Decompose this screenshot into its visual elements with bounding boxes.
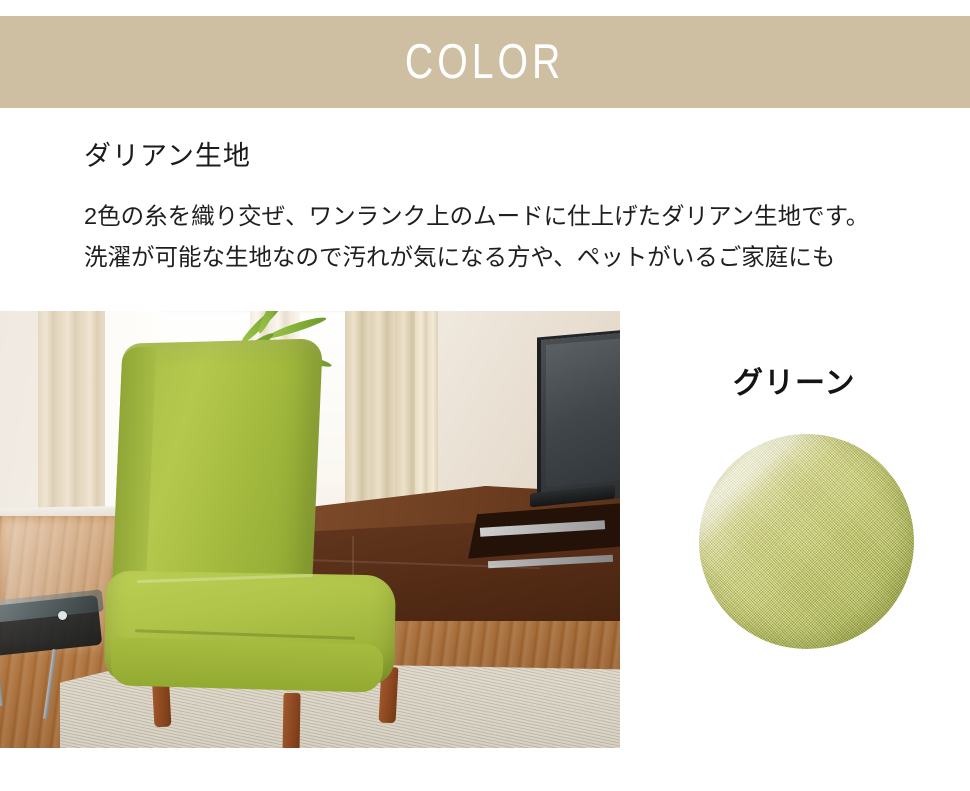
- green-floor-chair: [95, 341, 435, 741]
- chair-seat-front: [110, 637, 383, 693]
- television-screen: [546, 337, 620, 487]
- fabric-swatch-green: [699, 434, 914, 649]
- fabric-heading: ダリアン生地: [84, 134, 251, 173]
- description-line-2: 洗濯が可能な生地なので汚れが気になる方や、ペットがいるご家庭にも: [84, 237, 964, 278]
- product-room-photo: [0, 311, 620, 748]
- table-knob: [58, 611, 67, 620]
- chair-leg-center: [282, 693, 300, 748]
- fabric-description: 2色の糸を織り交ぜ、ワンランク上のムードに仕上げたダリアン生地です。 洗濯が可能…: [84, 196, 964, 278]
- banner-title: COLOR: [405, 38, 564, 87]
- color-banner: COLOR: [0, 16, 970, 108]
- color-section-page: COLOR ダリアン生地 2色の糸を織り交ぜ、ワンランク上のムードに仕上げたダリ…: [0, 0, 970, 791]
- description-line-1: 2色の糸を織り交ぜ、ワンランク上のムードに仕上げたダリアン生地です。: [84, 196, 964, 237]
- swatch-label: グリーン: [733, 358, 856, 402]
